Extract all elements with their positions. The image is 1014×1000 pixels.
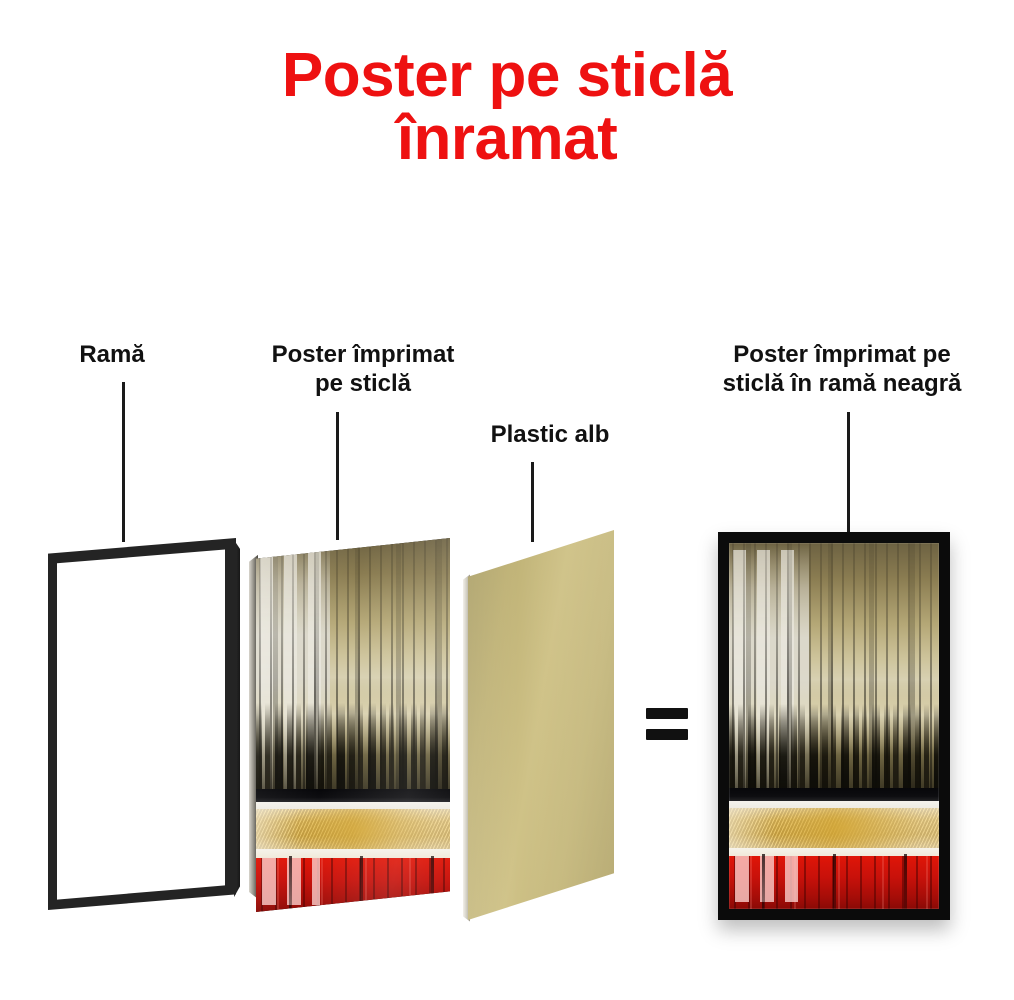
product-exploded-diagram — [0, 0, 1014, 1000]
artwork-gold-fade-final — [729, 808, 939, 852]
artwork-gold-fade — [256, 809, 450, 854]
artwork-canvas-final — [729, 543, 939, 909]
white-plastic-panel-illustration — [468, 530, 614, 920]
artwork-canvas — [256, 538, 450, 912]
final-product-artwork — [729, 543, 939, 909]
black-frame-illustration — [48, 538, 236, 910]
artwork-skyline — [256, 703, 450, 800]
black-frame-interior — [57, 547, 225, 901]
artwork-skyline-final — [729, 704, 939, 799]
printed-glass-poster-illustration — [256, 538, 450, 912]
equals-sign-bar-top — [646, 708, 688, 719]
artwork-red-drips-final — [729, 854, 939, 909]
equals-sign-icon — [646, 708, 688, 742]
equals-sign-bar-bottom — [646, 729, 688, 740]
final-framed-product-illustration — [718, 532, 950, 920]
artwork-red-drips — [256, 856, 450, 912]
glass-poster-artwork — [256, 538, 450, 912]
plastic-panel-face — [468, 530, 614, 920]
